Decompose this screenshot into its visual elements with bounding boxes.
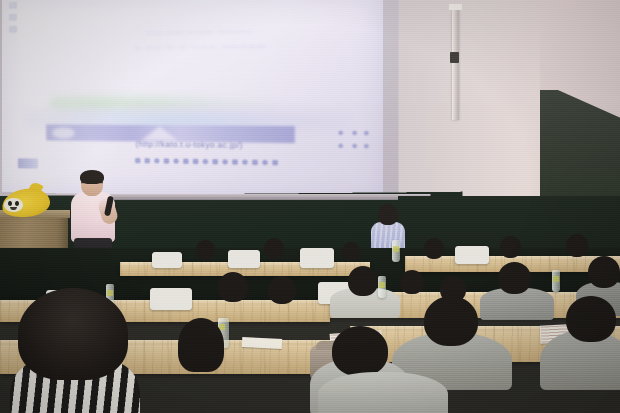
audience-head [178,318,224,372]
clock-icon [154,158,159,163]
audience-head [400,270,424,294]
water-bottle [392,240,400,262]
audience-head [218,272,248,302]
audience-head [18,288,128,380]
wall-socket [450,52,459,63]
rail-cap [449,4,462,10]
mail-icon [252,160,258,165]
wall-upper-right [540,0,620,90]
water-bottle [378,276,386,298]
audience-head [342,242,360,261]
water-bottle [552,270,560,292]
chalk-ledge [110,194,430,200]
browser-toolbar [135,156,339,169]
refresh-icon [173,159,178,164]
search-icon [9,2,17,9]
mascot-eye-left [8,201,12,206]
audience-head [566,234,588,257]
audience-head [268,276,296,304]
info-icon [212,159,217,164]
audience-head [264,238,284,259]
slide-line-1: —— —— ——— ———— [62,27,345,38]
standing-attendee-head [378,204,398,225]
lecture-hall-photo: — ——— ——— —— ———— —— —— —— ——— ———— — ——… [0,0,620,413]
chair-back [300,248,334,268]
wall-mounted-rail [452,6,459,120]
share-icon [262,160,268,165]
slide-right-marks [336,129,376,164]
chair-back [455,246,489,264]
mascot-eye-right [15,201,19,206]
chart-icon [164,158,169,163]
image-icon [183,159,188,164]
phone-icon [145,158,150,163]
cursor-icon [135,158,140,163]
presenter-hair [80,170,104,184]
audience-head [500,236,521,258]
chair-back [152,252,182,268]
audience-head [424,296,478,346]
audience-head [566,296,616,342]
bookmark-icon [9,14,17,21]
audience-shoulders [318,372,448,413]
save-icon [272,160,278,165]
audience-head [348,266,378,296]
slide-line-2: — —— — — ——— ————— [62,42,345,52]
handout-paper [242,337,282,349]
projector-screen: — ——— ——— —— ———— —— —— —— ——— ———— — ——… [2,0,383,201]
expand-icon [232,159,238,164]
audience-head [588,256,620,288]
chair-back [228,250,260,268]
audience-head [424,238,444,259]
gear-icon [242,160,248,165]
site-logo [18,158,38,168]
person-icon [9,26,17,33]
slide-url-caption: (http://kato.t.u-tokyo.ac.jp/) [93,139,288,151]
chair-back [150,288,192,310]
audience-head [332,326,388,376]
audience-head [196,240,215,260]
audience-head [498,262,531,294]
globe-icon [222,159,227,164]
video-icon [193,159,198,164]
link-icon [203,159,208,164]
